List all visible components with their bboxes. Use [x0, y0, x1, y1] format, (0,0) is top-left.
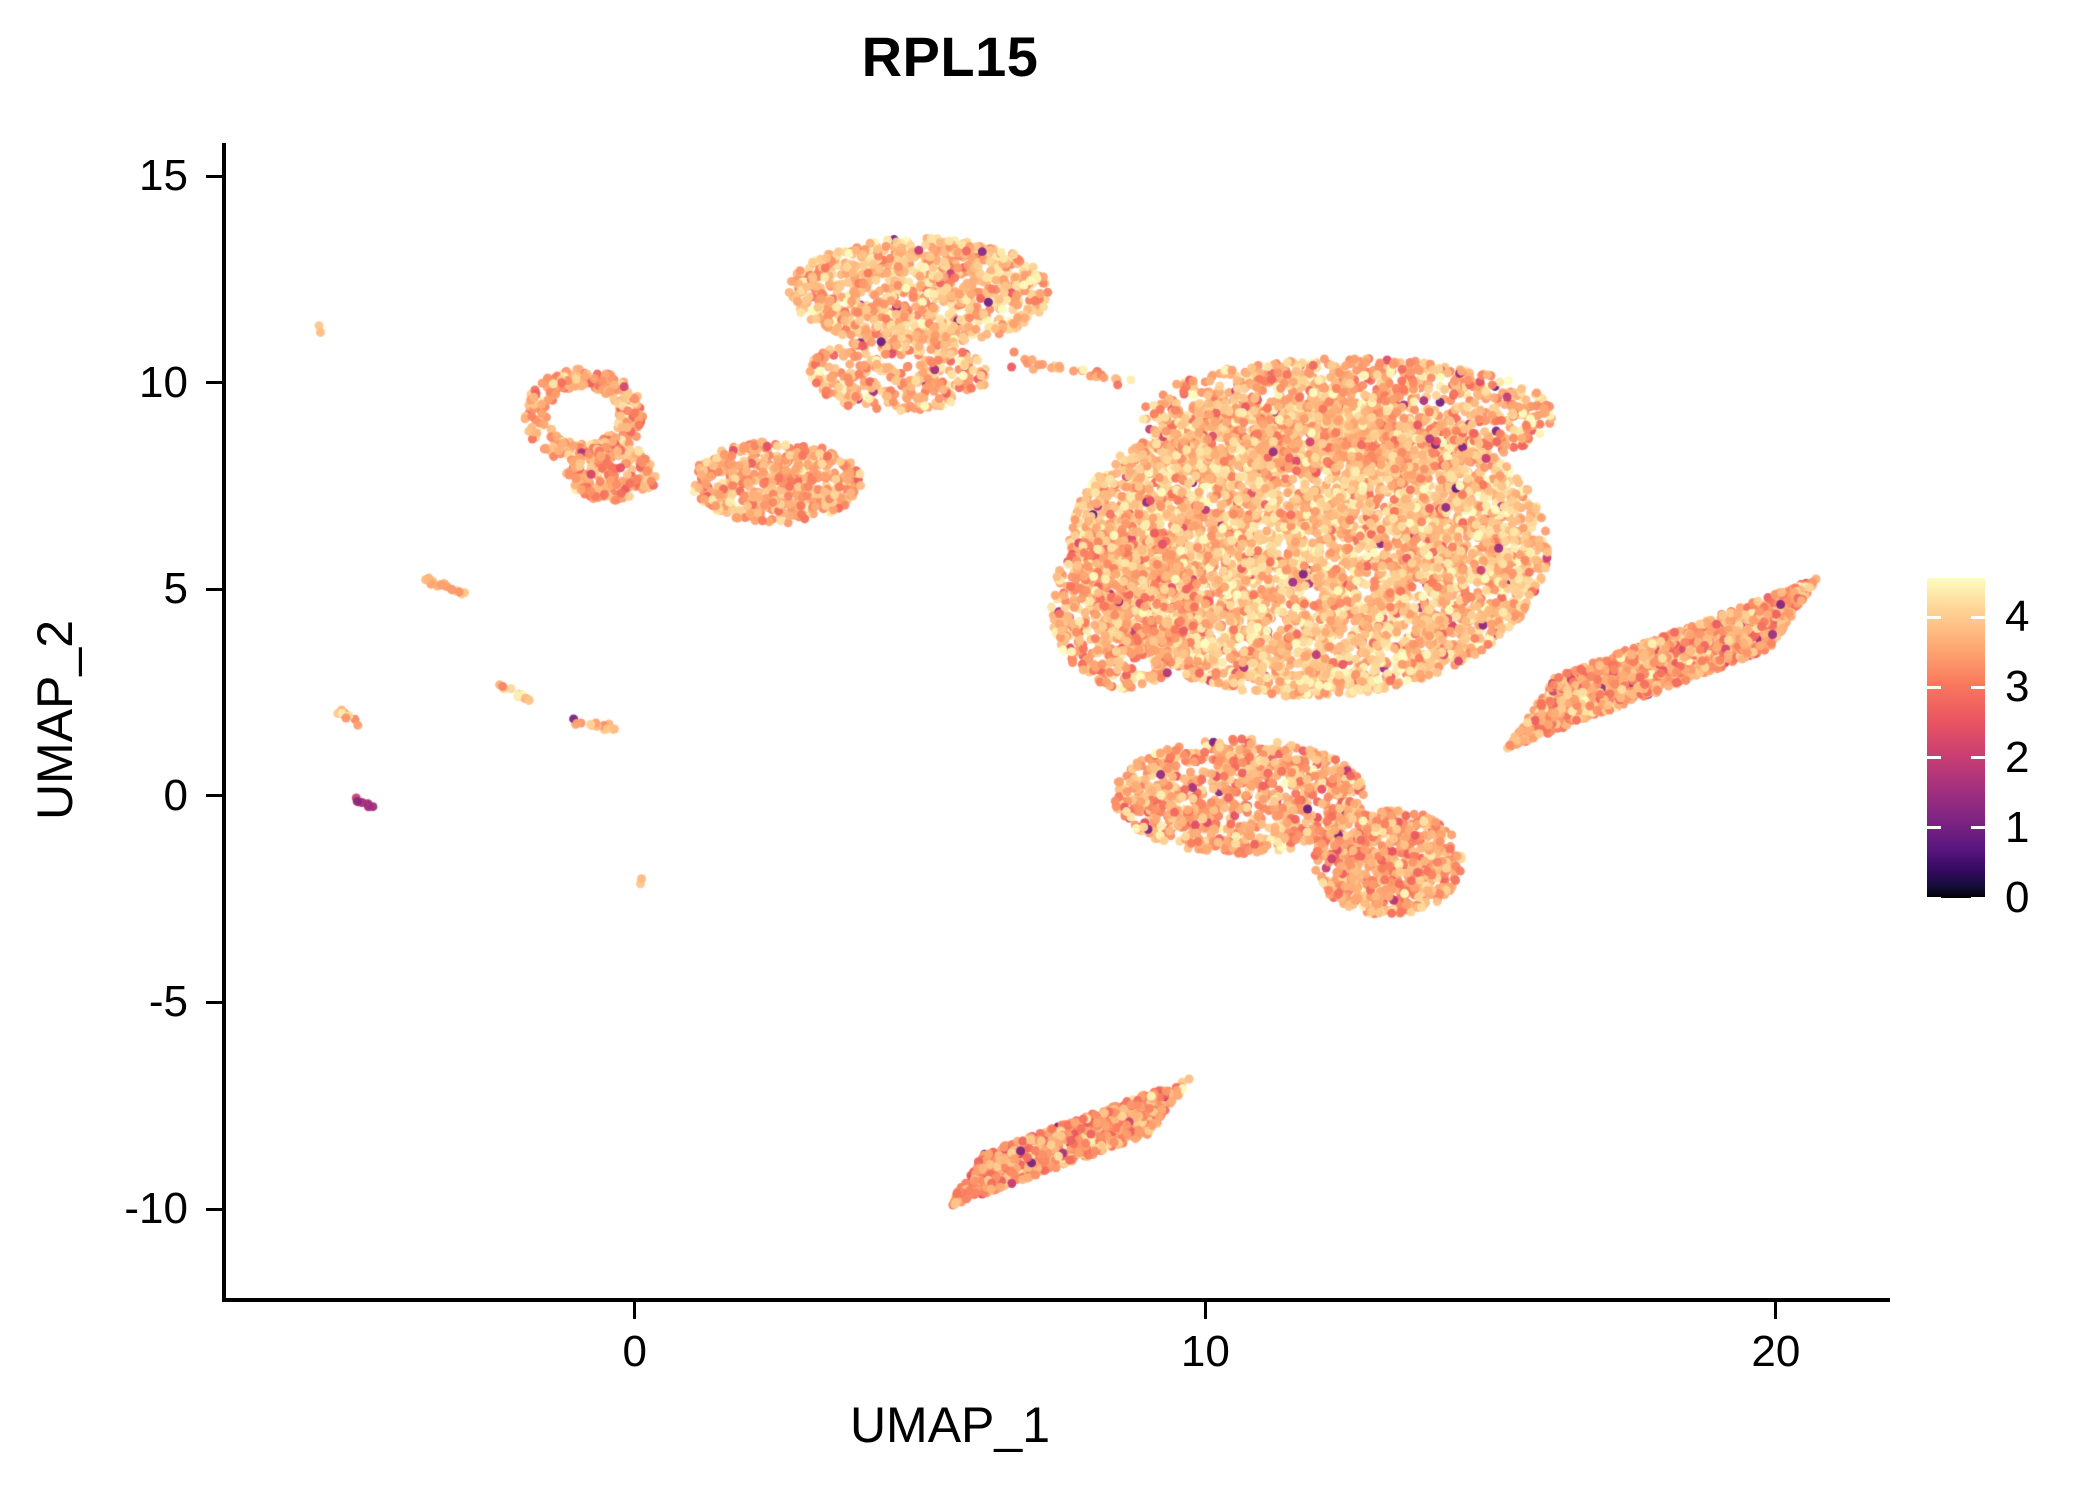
- colorbar-gradient: [1927, 578, 1985, 898]
- y-tick-label: -10: [0, 1187, 188, 1231]
- y-tick-mark: [206, 1001, 223, 1004]
- feature-plot-figure: RPL15 151050-5-10 01020 UMAP_1 UMAP_2 43…: [0, 0, 2100, 1500]
- color-legend: [1927, 578, 1985, 898]
- colorbar-tick-mark: [1971, 826, 1985, 829]
- scatter-points-layer: [224, 143, 1890, 1300]
- x-tick-label: 20: [1646, 1330, 1906, 1374]
- colorbar-tick-mark: [1971, 897, 1985, 900]
- x-tick-mark: [633, 1302, 636, 1319]
- colorbar-tick-label: 1: [2005, 806, 2029, 850]
- x-axis-title: UMAP_1: [0, 1395, 1900, 1455]
- y-tick-label: 15: [0, 154, 188, 198]
- x-tick-mark: [1204, 1302, 1207, 1319]
- colorbar-tick-mark: [1927, 897, 1941, 900]
- colorbar-tick-mark: [1971, 686, 1985, 689]
- x-tick-label: 0: [505, 1330, 765, 1374]
- y-axis-title: UMAP_2: [25, 370, 85, 1070]
- page-title: RPL15: [0, 22, 1900, 92]
- colorbar-tick-label: 3: [2005, 665, 2029, 709]
- colorbar-tick-mark: [1971, 616, 1985, 619]
- colorbar-tick-label: 4: [2005, 595, 2029, 639]
- x-axis-line: [222, 1298, 1890, 1302]
- y-tick-mark: [206, 1208, 223, 1211]
- y-tick-mark: [206, 175, 223, 178]
- colorbar-tick-mark: [1971, 756, 1985, 759]
- colorbar-tick-mark: [1927, 826, 1941, 829]
- y-tick-mark: [206, 381, 223, 384]
- colorbar-tick-label: 0: [2005, 876, 2029, 920]
- colorbar-tick-mark: [1927, 616, 1941, 619]
- y-tick-mark: [206, 588, 223, 591]
- colorbar-tick-mark: [1927, 686, 1941, 689]
- y-tick-mark: [206, 794, 223, 797]
- colorbar-tick-label: 2: [2005, 736, 2029, 780]
- y-axis-line: [222, 143, 226, 1302]
- x-tick-label: 10: [1075, 1330, 1335, 1374]
- colorbar-tick-mark: [1927, 756, 1941, 759]
- x-tick-mark: [1774, 1302, 1777, 1319]
